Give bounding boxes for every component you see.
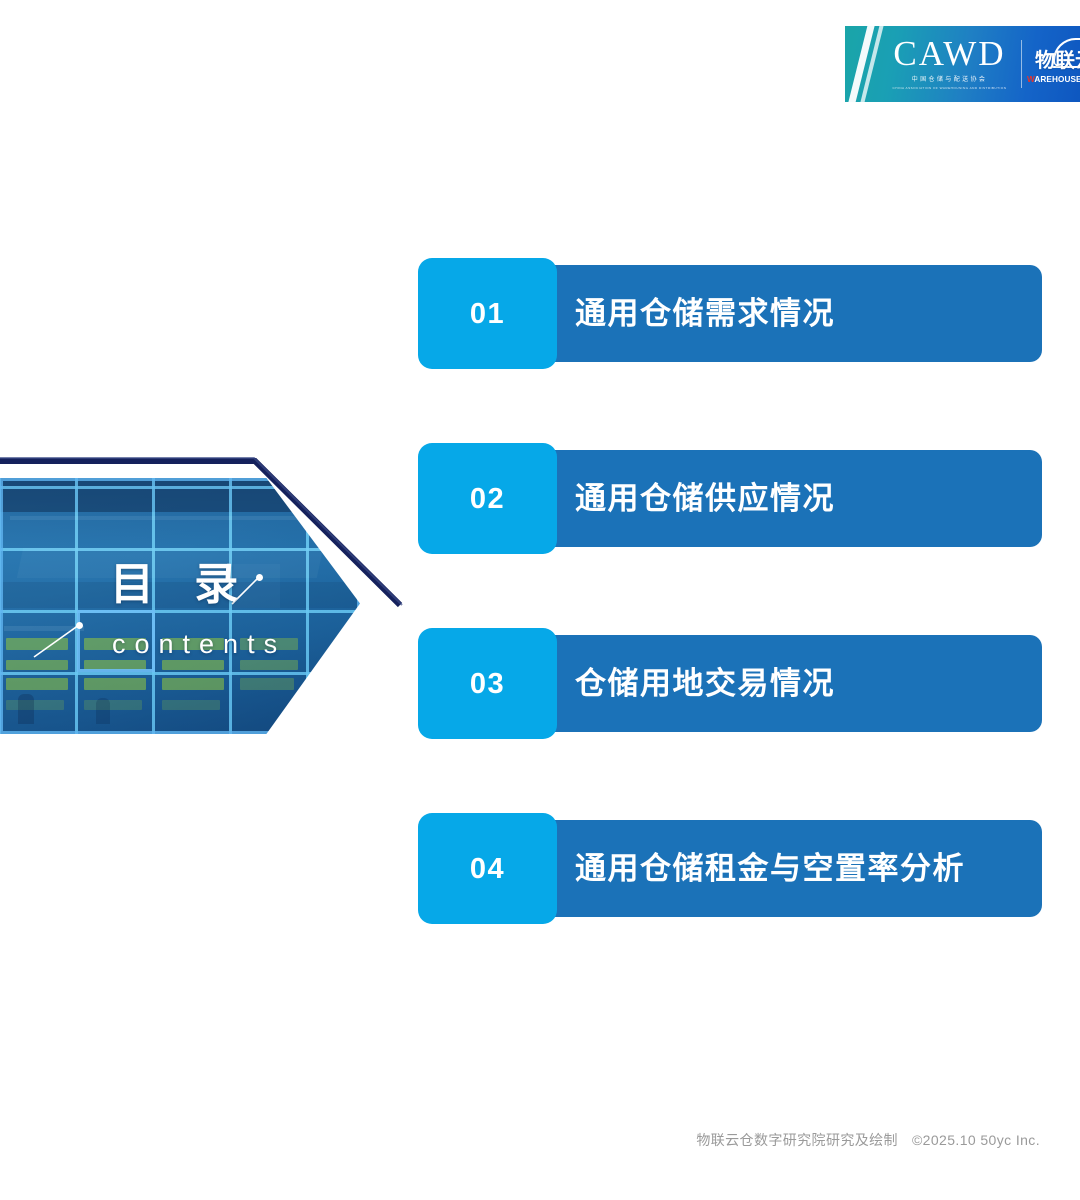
hero-dot-upper	[256, 574, 263, 581]
footer-credit: 物联云仓数字研究院研究及绘制	[696, 1132, 898, 1148]
contents-item-number: 03	[470, 667, 505, 701]
contents-item-badge: 03	[418, 628, 557, 739]
contents-item-label: 仓储用地交易情况	[575, 628, 835, 739]
wuliang-yuncang-logo: 物联云仓 WAREHOUSE IN CLOUD	[1027, 38, 1080, 94]
contents-item-badge: 01	[418, 258, 557, 369]
cawd-logo: CAWD 中国仓储与配送协会 CHINA ASSOCIATION OF WARE…	[887, 32, 1012, 92]
contents-item-number: 01	[470, 297, 505, 331]
hero-contents-graphic: 目 录 contents	[0, 452, 420, 742]
logo-divider	[1021, 40, 1022, 88]
contents-item-number: 04	[470, 852, 505, 886]
contents-item-04[interactable]: 04 通用仓储租金与空置率分析	[418, 813, 1042, 924]
wuliang-yuncang-tagline: WAREHOUSE IN CLOUD	[1027, 75, 1080, 84]
footer-copyright: ©2025.10 50yc Inc.	[912, 1132, 1040, 1148]
contents-item-03[interactable]: 03 仓储用地交易情况	[418, 628, 1042, 739]
contents-item-number: 02	[470, 482, 505, 516]
wuliang-yuncang-chinese-name: 物联云仓	[1027, 49, 1080, 73]
contents-list: 01 通用仓储需求情况 02 通用仓储供应情况 03 仓储用地交易情况 04 通…	[418, 258, 1042, 924]
contents-item-02[interactable]: 02 通用仓储供应情况	[418, 443, 1042, 554]
contents-item-label: 通用仓储供应情况	[575, 443, 835, 554]
tagline-arehouse: AREHOUSE	[1034, 75, 1080, 84]
contents-item-01[interactable]: 01 通用仓储需求情况	[418, 258, 1042, 369]
footer: 物联云仓数字研究院研究及绘制©2025.10 50yc Inc.	[0, 1130, 1040, 1150]
contents-item-label: 通用仓储需求情况	[575, 258, 835, 369]
contents-item-badge: 02	[418, 443, 557, 554]
cawd-english-name: CHINA ASSOCIATION OF WAREHOUSING AND DIS…	[892, 85, 1007, 91]
cawd-acronym: CAWD	[887, 32, 1012, 76]
hero-title: 目 录	[110, 560, 252, 610]
header-logo-bar: CAWD 中国仓储与配送协会 CHINA ASSOCIATION OF WARE…	[845, 26, 1080, 102]
contents-item-badge: 04	[418, 813, 557, 924]
hero-subtitle: contents	[112, 628, 286, 660]
contents-item-label: 通用仓储租金与空置率分析	[575, 813, 965, 924]
hero-dot-lower	[76, 622, 83, 629]
cawd-chinese-name: 中国仓储与配送协会	[887, 76, 1012, 85]
